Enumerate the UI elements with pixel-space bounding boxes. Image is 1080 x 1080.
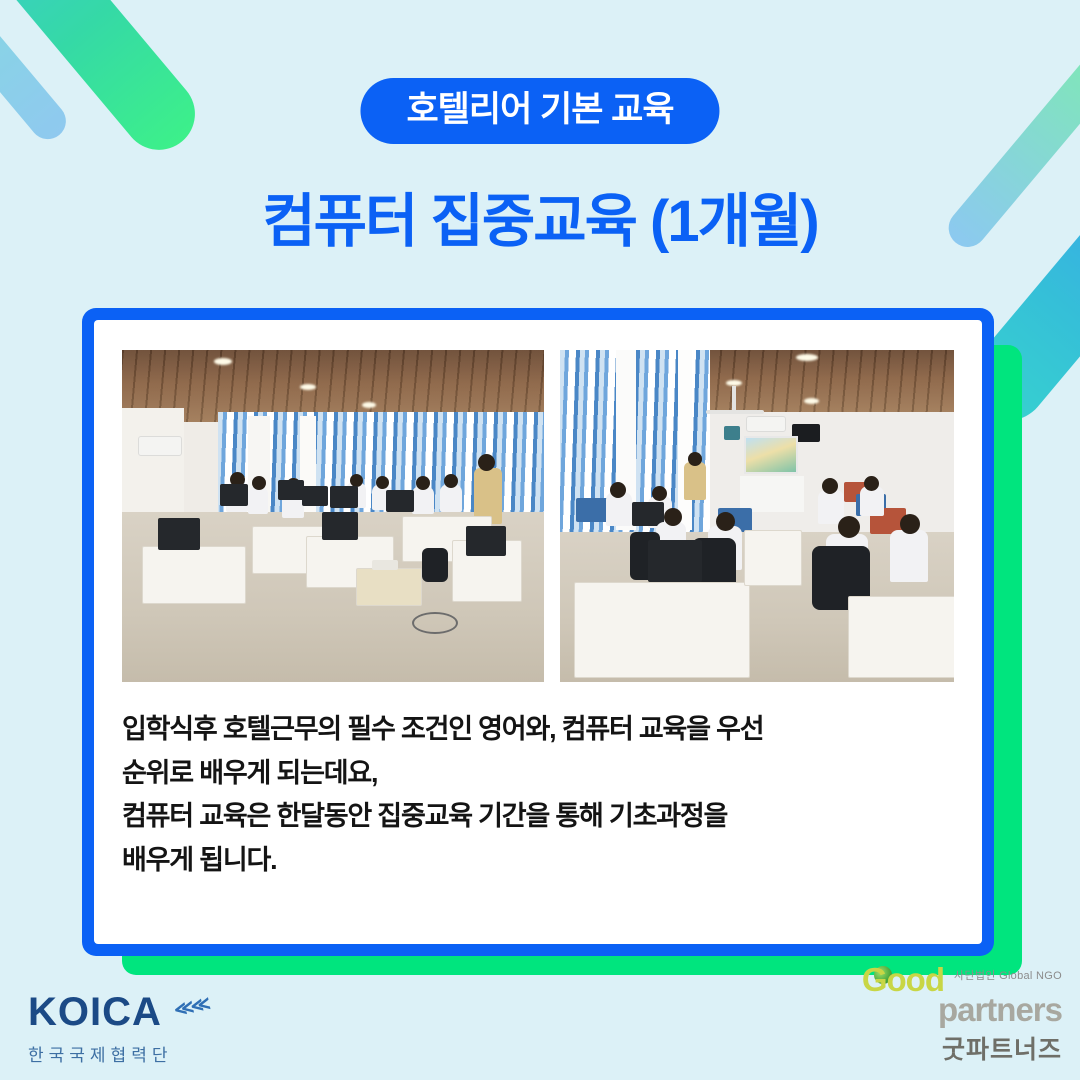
koica-wordmark: KOICA ≪≪ <box>28 992 162 1032</box>
good-partners-korean-text: 굿파트너즈 <box>938 1030 1062 1066</box>
body-paragraph: 입학식후 호텔근무의 필수 조건인 영어와, 컴퓨터 교육을 우선 순위로 배우… <box>122 708 954 883</box>
good-partners-top-row: Good 사단법인 Global NGO <box>938 963 1062 999</box>
photo-row <box>122 350 954 682</box>
koica-subtitle: 한국국제협력단 <box>28 1041 172 1066</box>
decor-bar-top-left-thin <box>0 0 73 146</box>
photo-computer-lab-right <box>560 350 954 682</box>
good-partners-good-text: Good <box>862 963 944 996</box>
body-line-1: 입학식후 호텔근무의 필수 조건인 영어와, 컴퓨터 교육을 우선 <box>122 708 954 752</box>
body-line-3: 컴퓨터 교육은 한달동안 집중교육 기간을 통해 기초과정을 <box>122 795 954 839</box>
koica-logo: KOICA ≪≪ 한국국제협력단 <box>28 992 172 1066</box>
koica-wordmark-text: KOICA <box>28 990 162 1034</box>
koica-swoosh-icon: ≪≪ <box>173 995 210 1021</box>
page-title: 컴퓨터 집중교육 (1개월) <box>0 190 1080 254</box>
good-partners-logo: Good 사단법인 Global NGO partners 굿파트너즈 <box>938 963 1062 1066</box>
content-card: 입학식후 호텔근무의 필수 조건인 영어와, 컴퓨터 교육을 우선 순위로 배우… <box>82 308 994 956</box>
content-card-inner: 입학식후 호텔근무의 필수 조건인 영어와, 컴퓨터 교육을 우선 순위로 배우… <box>94 320 982 944</box>
category-badge: 호텔리어 기본 교육 <box>360 78 719 144</box>
body-line-4: 배우게 됩니다. <box>122 839 954 883</box>
photo-computer-lab-left <box>122 350 544 682</box>
good-partners-ngo-tag: 사단법인 Global NGO <box>954 967 1062 983</box>
decor-bar-top-left-wide <box>0 0 210 165</box>
body-line-2: 순위로 배우게 되는데요, <box>122 752 954 796</box>
